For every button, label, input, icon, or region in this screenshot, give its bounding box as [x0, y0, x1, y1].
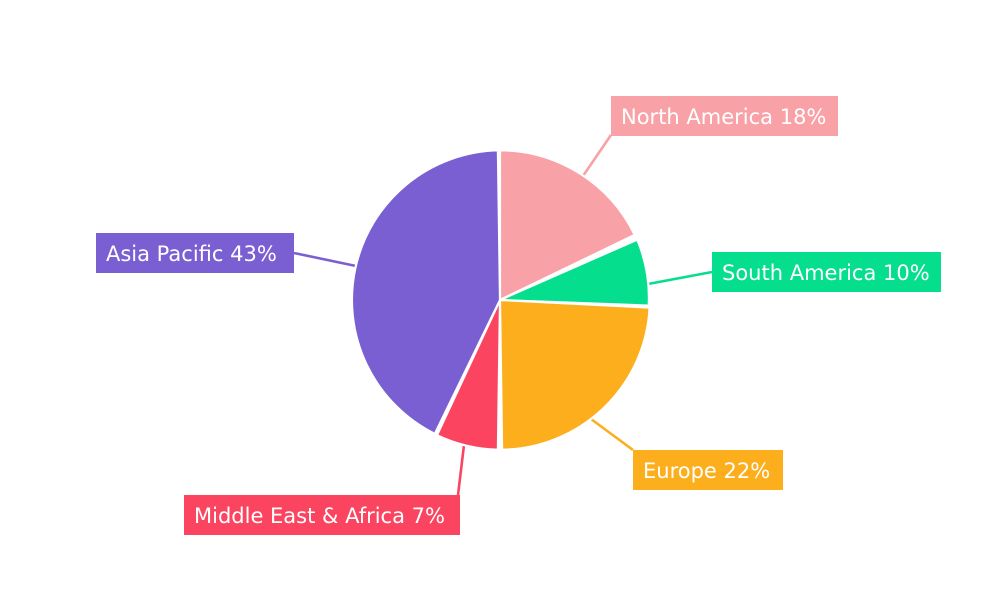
slice-label-north-america[interactable]: North America 18% — [611, 96, 838, 136]
pie-slices-group — [352, 150, 650, 449]
label-text-middle-east-africa: Middle East & Africa 7% — [194, 504, 445, 528]
slice-label-asia-pacific[interactable]: Asia Pacific 43% — [96, 233, 294, 273]
slice-label-europe[interactable]: Europe 22% — [633, 450, 783, 490]
pie-chart-canvas: North America 18%South America 10%Europe… — [0, 0, 1000, 600]
slice-label-south-america[interactable]: South America 10% — [712, 252, 941, 292]
label-text-north-america: North America 18% — [621, 105, 826, 129]
label-text-asia-pacific: Asia Pacific 43% — [106, 242, 277, 266]
label-text-south-america: South America 10% — [722, 261, 930, 285]
slice-label-middle-east-africa[interactable]: Middle East & Africa 7% — [184, 495, 460, 535]
label-text-europe: Europe 22% — [643, 459, 770, 483]
pie-chart-figure: North America 18%South America 10%Europe… — [0, 0, 1000, 600]
